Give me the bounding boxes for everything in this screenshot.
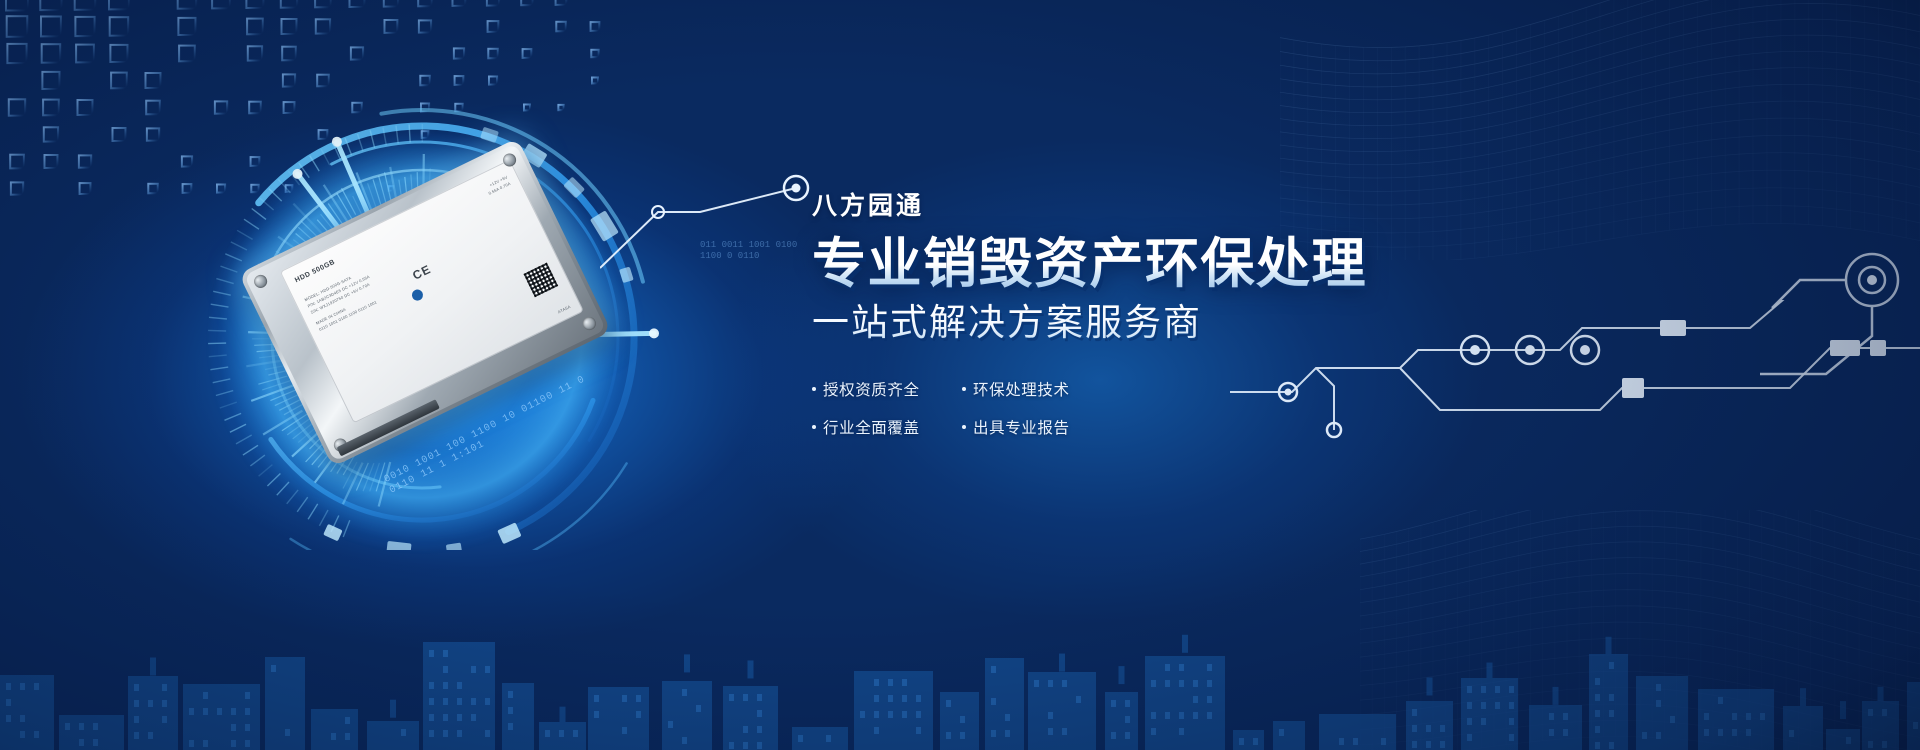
vignette-overlay: [0, 0, 1920, 750]
hero-banner: HDD 500GB CE MODEL: HDD-500G-SATA P/N: 1…: [0, 0, 1920, 750]
